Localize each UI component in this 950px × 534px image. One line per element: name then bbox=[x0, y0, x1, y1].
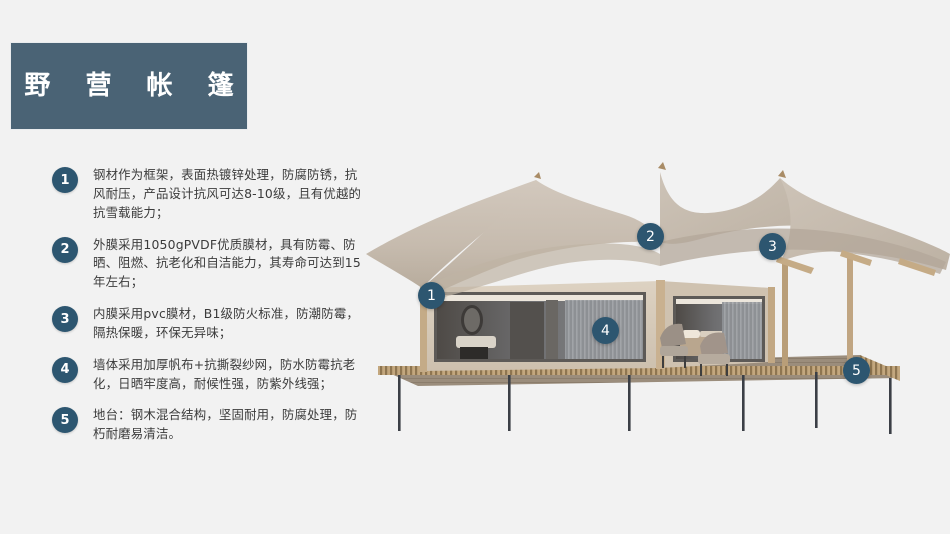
callout-3: 3 bbox=[759, 233, 786, 260]
list-item: 4 墙体采用加厚帆布+抗撕裂纱网，防水防霉抗老化，日晒牢度高，耐候性强，防紫外线… bbox=[52, 356, 367, 394]
callout-4: 4 bbox=[592, 317, 619, 344]
page-title-banner: 野 营 帐 篷 bbox=[10, 42, 248, 130]
feature-text-2: 外膜采用1050gPVDF优质膜材，具有防霉、防晒、阻燃、抗老化和自洁能力，其寿… bbox=[93, 236, 367, 293]
feature-badge-1: 1 bbox=[52, 167, 78, 193]
callout-2: 2 bbox=[637, 223, 664, 250]
feature-text-1: 钢材作为框架，表面热镀锌处理，防腐防锈，抗风耐压，产品设计抗风可达8-10级，且… bbox=[93, 166, 367, 223]
feature-badge-3: 3 bbox=[52, 306, 78, 332]
callout-1: 1 bbox=[418, 282, 445, 309]
list-item: 1 钢材作为框架，表面热镀锌处理，防腐防锈，抗风耐压，产品设计抗风可达8-10级… bbox=[52, 166, 367, 223]
callout-5: 5 bbox=[843, 357, 870, 384]
feature-text-3: 内膜采用pvc膜材，B1级防火标准，防潮防霉，隔热保暖，环保无异味； bbox=[93, 305, 367, 343]
feature-text-4: 墙体采用加厚帆布+抗撕裂纱网，防水防霉抗老化，日晒牢度高，耐候性强，防紫外线强； bbox=[93, 356, 367, 394]
feature-badge-2: 2 bbox=[52, 237, 78, 263]
slide-root: 野 营 帐 篷 1 钢材作为框架，表面热镀锌处理，防腐防锈，抗风耐压，产品设计抗… bbox=[0, 0, 950, 534]
feature-text-5: 地台：钢木混合结构，坚固耐用，防腐处理，防朽耐磨易清洁。 bbox=[93, 406, 367, 444]
feature-badge-5: 5 bbox=[52, 407, 78, 433]
page-title: 野 营 帐 篷 bbox=[11, 73, 246, 99]
list-item: 2 外膜采用1050gPVDF优质膜材，具有防霉、防晒、阻燃、抗老化和自洁能力，… bbox=[52, 236, 367, 293]
list-item: 5 地台：钢木混合结构，坚固耐用，防腐处理，防朽耐磨易清洁。 bbox=[52, 406, 367, 444]
camping-tent-illustration: 野 湖 营 居 bbox=[360, 150, 950, 460]
feature-badge-4: 4 bbox=[52, 357, 78, 383]
feature-list: 1 钢材作为框架，表面热镀锌处理，防腐防锈，抗风耐压，产品设计抗风可达8-10级… bbox=[52, 166, 367, 457]
list-item: 3 内膜采用pvc膜材，B1级防火标准，防潮防霉，隔热保暖，环保无异味； bbox=[52, 305, 367, 343]
